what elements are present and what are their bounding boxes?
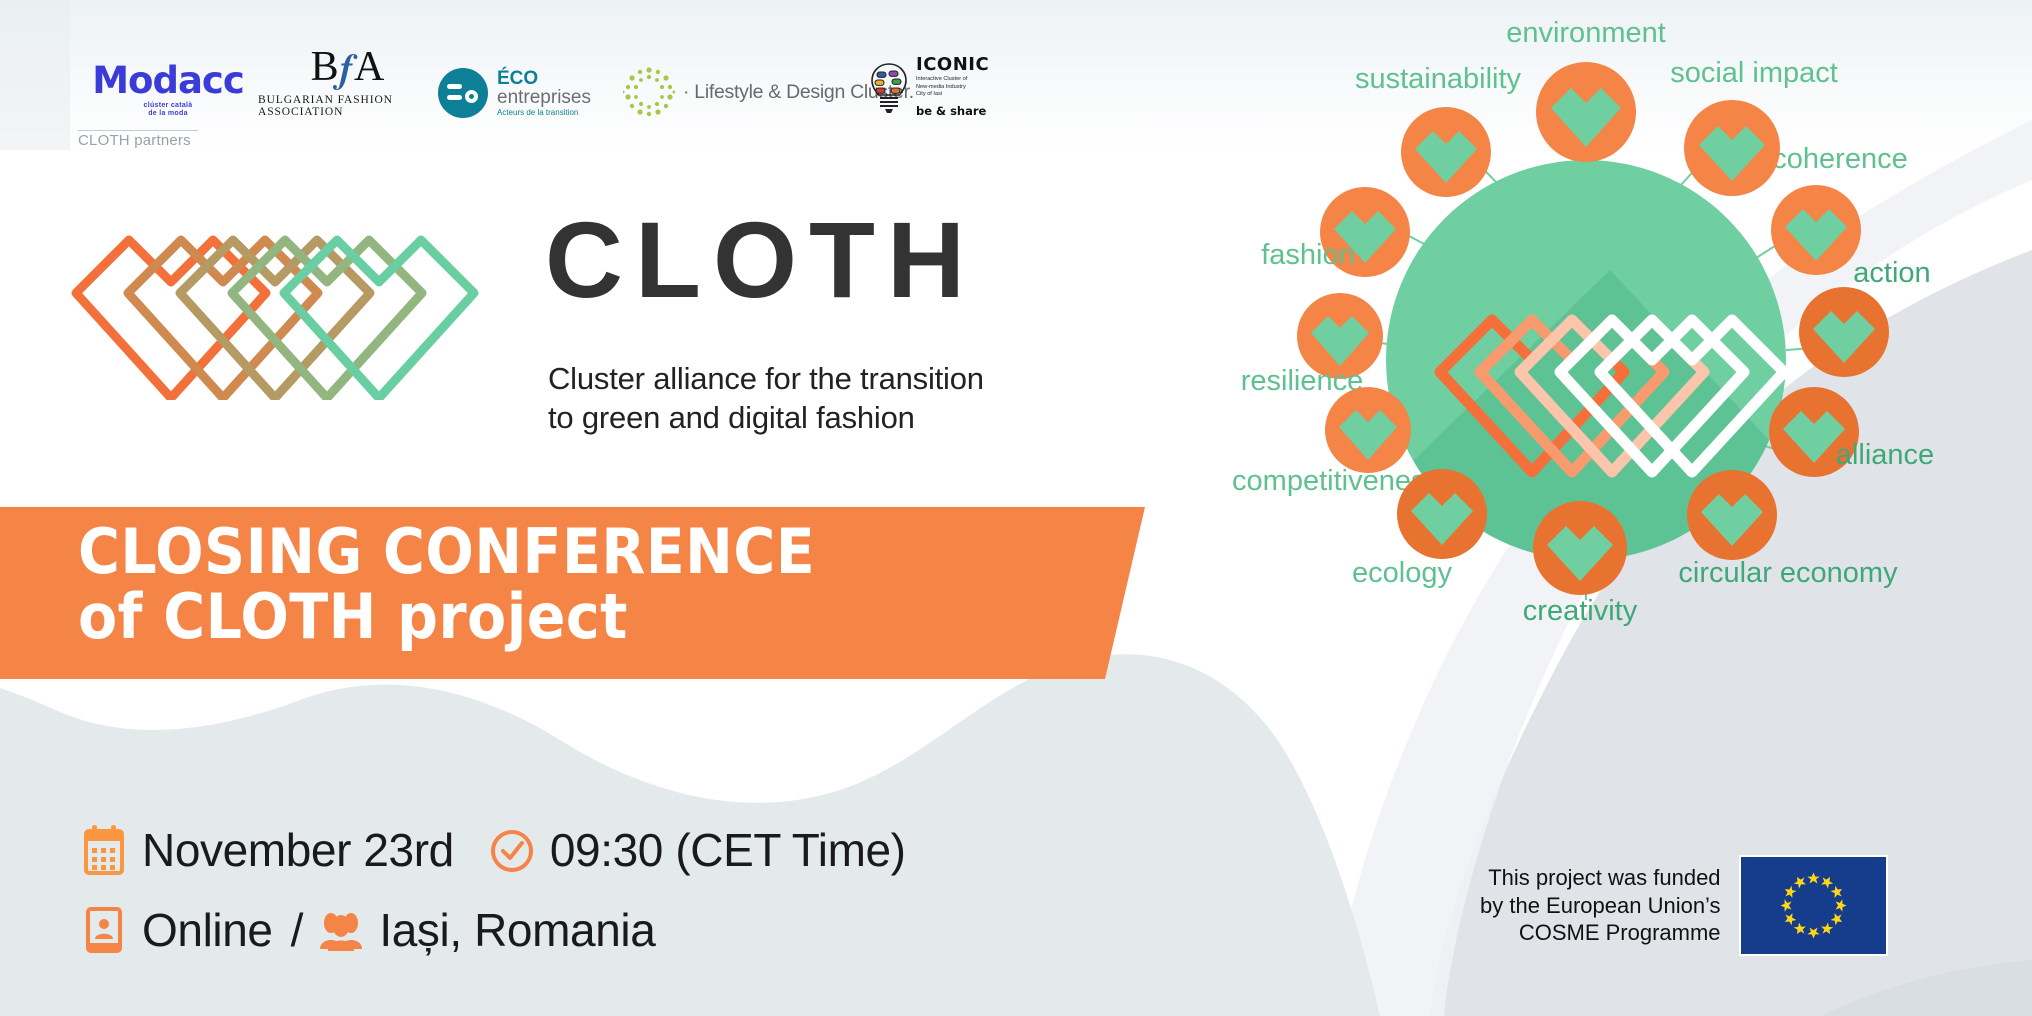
eu-funding-line3: COSME Programme [1480,919,1721,947]
node-sustainability: sustainability [1355,63,1522,197]
clock-icon [488,823,536,877]
node-label-creativity: creativity [1523,595,1638,627]
node-resilience: resilience [1241,293,1383,397]
poster-canvas: Modacc clúster catalàde la moda B𝆑A BULG… [0,0,2032,1016]
screen-person-icon [80,903,128,957]
eco-line1: ÉCO [497,69,591,88]
headline-text: CLOSING CONFERENCE of CLOTH project [78,522,879,648]
modacc-wordmark: Modacc [92,62,244,99]
headline-line2-mid: CLOTH [163,580,377,653]
brand-tagline-line2: to green and digital fashion [548,400,915,435]
node-label-circular-economy: circular economy [1678,557,1898,589]
eco-entreprises-icon [438,68,488,118]
eco-line2: entreprises [497,88,591,108]
node-label-alliance: alliance [1836,439,1934,471]
node-label-coherence: coherence [1772,143,1907,175]
headline-line1: CLOSING CONFERENCE [78,522,815,583]
event-detail-row-location: Online / Iași, Romania [80,890,906,970]
dot-ring-icon [623,66,675,118]
partner-logo-iconic: ICONIC Interactive Cluster ofNew-media I… [868,48,1038,118]
headline-line2-suffix: project [377,580,628,653]
detail-separator: / [291,903,304,957]
partner-logo-modacc: Modacc clúster catalàde la moda [78,48,258,118]
people-icon [317,903,365,957]
node-label-fashion: fashion [1261,239,1355,271]
node-label-environment: environment [1506,20,1666,49]
page-title: CLOTH [545,206,977,314]
node-alliance: alliance [1769,387,1934,477]
node-coherence: coherence [1771,143,1908,275]
event-location: Iași, Romania [379,903,655,957]
node-label-social-impact: social impact [1670,57,1838,89]
node-label-ecology: ecology [1352,557,1452,589]
iconic-subtitle: Interactive Cluster ofNew-media Industry… [916,76,989,99]
eu-funding-block: This project was funded by the European … [1480,855,1888,956]
node-label-resilience: resilience [1241,365,1364,397]
node-action: action [1799,257,1931,377]
eu-funding-line2: by the European Union’s [1480,892,1721,920]
cloth-logo [66,185,496,400]
node-label-action: action [1853,257,1930,289]
node-circular-economy: circular economy [1678,470,1898,589]
brand-tagline: Cluster alliance for the transition to g… [548,360,984,438]
brand-tagline-line1: Cluster alliance for the transition [548,361,984,396]
event-time: 09:30 (CET Time) [550,823,906,877]
partner-strip: Modacc clúster catalàde la moda B𝆑A BULG… [0,0,1290,150]
lightbulb-icon [868,62,910,112]
headline-line2: of CLOTH project [78,587,815,648]
modacc-subtitle: clúster catalàde la moda [144,102,193,118]
node-social-impact: social impact [1670,57,1838,196]
radial-concept-diagram: environment sustainability fashion resil… [1140,20,2032,820]
eu-funding-text: This project was funded by the European … [1480,864,1721,947]
event-date: November 23rd [142,823,454,877]
partner-section-label: CLOTH partners [78,132,191,149]
partner-logo-eco-entreprises: ÉCO entreprises Acteurs de la transition [438,48,623,118]
iconic-tagline: be & share [916,104,989,118]
partner-logo-bfa: B𝆑A BULGARIAN FASHION ASSOCIATION [258,48,438,118]
bfa-subtitle: BULGARIAN FASHION ASSOCIATION [258,94,438,118]
bfa-monogram: B𝆑A [311,46,386,88]
event-detail-row-datetime: November 23rd 09:30 (CET Time) [80,810,906,890]
headline-line2-prefix: of [78,580,163,653]
node-label-sustainability: sustainability [1355,63,1522,95]
partner-logo-lifestyle-design-cluster: · Lifestyle & Design Cluster. [623,48,868,118]
partner-logos: Modacc clúster catalàde la moda B𝆑A BULG… [78,48,1038,118]
eco-line3: Acteurs de la transition [497,109,591,117]
iconic-wordmark: ICONIC [916,56,989,74]
node-fashion: fashion [1261,187,1410,277]
node-environment: environment [1506,20,1666,162]
event-details: November 23rd 09:30 (CET Time) Online [80,810,906,970]
event-mode: Online [142,903,273,957]
calendar-icon [80,823,128,877]
partner-divider [78,130,198,131]
eu-flag-icon [1739,855,1888,956]
eu-funding-line1: This project was funded [1480,864,1721,892]
